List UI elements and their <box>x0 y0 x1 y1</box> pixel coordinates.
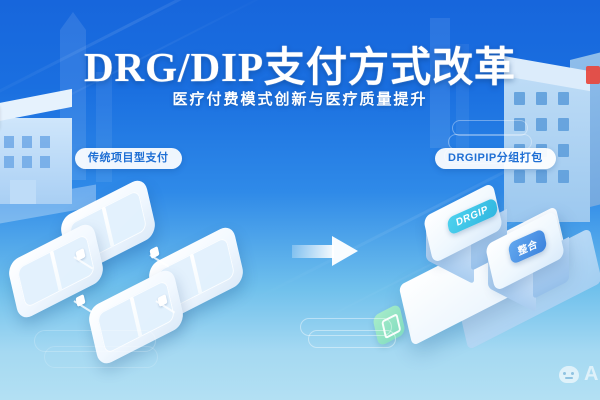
circuit-wire <box>44 346 158 368</box>
hospital-entrance <box>10 180 36 204</box>
window <box>558 170 569 183</box>
badge-traditional-payment[interactable]: 传统项目型支付 <box>75 148 182 169</box>
flow-card <box>7 220 106 322</box>
circuit-wire <box>308 330 396 348</box>
arrow-tail <box>292 245 334 258</box>
transform-arrow-icon <box>292 236 362 266</box>
watermark-text: AI <box>584 363 600 386</box>
window <box>4 136 14 148</box>
window <box>536 118 547 131</box>
arrow-head <box>332 236 358 266</box>
window <box>514 170 525 183</box>
window <box>22 136 32 148</box>
window <box>40 156 50 168</box>
banner-image: DRG/DIP支付方式改革 医疗付费模式创新与医疗质量提升 传统项目型支付 DR… <box>0 0 600 400</box>
window <box>558 144 569 157</box>
cloud-face-icon <box>559 366 579 383</box>
page-title: DRG/DIP支付方式改革 <box>0 33 600 93</box>
page-subtitle: 医疗付费模式创新与医疗质量提升 <box>0 88 600 109</box>
window <box>22 156 32 168</box>
window <box>40 136 50 148</box>
window <box>4 156 14 168</box>
watermark: AI <box>559 363 600 386</box>
window <box>536 170 547 183</box>
window <box>558 118 569 131</box>
badge-drg-grouping[interactable]: DRGIPIP分组打包 <box>435 148 556 169</box>
